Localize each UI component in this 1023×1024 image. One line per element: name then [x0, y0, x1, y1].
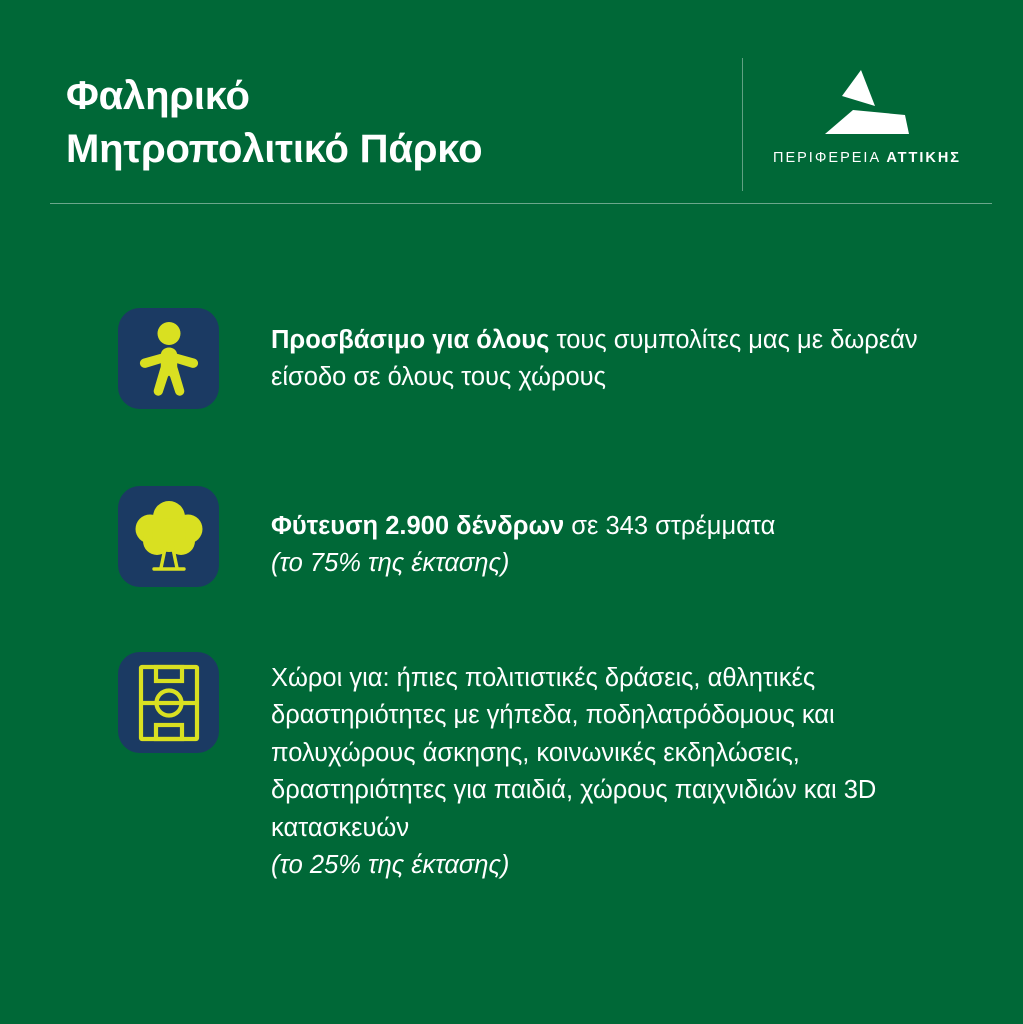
attica-region-triangle-mark	[817, 66, 917, 138]
feature-note: (το 25% της έκτασης)	[271, 847, 951, 884]
feature-row-trees: Φύτευση 2.900 δένδρων σε 343 στρέμματα (…	[118, 486, 775, 587]
feature-text-trees: Φύτευση 2.900 δένδρων σε 343 στρέμματα (…	[271, 486, 775, 583]
accessibility-icon	[133, 322, 205, 396]
feature-text-spaces: Χώροι για: ήπιες πολιτιστικές δράσεις, α…	[271, 652, 951, 885]
icon-tile-trees	[118, 486, 219, 587]
icon-tile-sports-field	[118, 652, 219, 753]
brand-name: ΠΕΡΙΦΕΡΕΙΑ ΑΤΤΙΚΗΣ	[773, 150, 961, 166]
page-title: Φαληρικό Μητροπολιτικό Πάρκο	[66, 70, 482, 176]
feature-text-accessibility: Προσβάσιμο για όλους τους συμπολίτες μας…	[271, 308, 951, 397]
feature-rest: Χώροι για: ήπιες πολιτιστικές δράσεις, α…	[271, 664, 876, 842]
feature-rest: σε 343 στρέμματα	[564, 512, 775, 540]
icon-tile-accessibility	[118, 308, 219, 409]
poster-header: Φαληρικό Μητροπολιτικό Πάρκο ΠΕΡΙΦΕΡΕΙΑ …	[66, 58, 991, 191]
feature-note: (το 75% της έκτασης)	[271, 545, 775, 582]
title-block: Φαληρικό Μητροπολιτικό Πάρκο	[66, 58, 482, 176]
sports-field-icon	[138, 664, 200, 742]
tree-icon	[132, 499, 206, 575]
brand-name-light: ΠΕΡΙΦΕΡΕΙΑ	[773, 150, 880, 166]
brand-lockup: ΠΕΡΙΦΕΡΕΙΑ ΑΤΤΙΚΗΣ	[742, 58, 991, 191]
feature-lead: Φύτευση 2.900 δένδρων	[271, 512, 564, 540]
header-divider	[50, 203, 992, 204]
brand-inner: ΠΕΡΙΦΕΡΕΙΑ ΑΤΤΙΚΗΣ	[743, 58, 991, 191]
feature-paragraph: Χώροι για: ήπιες πολιτιστικές δράσεις, α…	[271, 660, 951, 847]
feature-lead: Προσβάσιμο για όλους	[271, 326, 549, 354]
feature-row-accessibility: Προσβάσιμο για όλους τους συμπολίτες μας…	[118, 308, 951, 409]
feature-paragraph: Προσβάσιμο για όλους τους συμπολίτες μας…	[271, 322, 951, 397]
brand-name-bold: ΑΤΤΙΚΗΣ	[886, 150, 961, 166]
feature-row-spaces: Χώροι για: ήπιες πολιτιστικές δράσεις, α…	[118, 652, 951, 885]
feature-paragraph: Φύτευση 2.900 δένδρων σε 343 στρέμματα	[271, 508, 775, 545]
poster-canvas: Φαληρικό Μητροπολιτικό Πάρκο ΠΕΡΙΦΕΡΕΙΑ …	[0, 0, 1023, 1024]
